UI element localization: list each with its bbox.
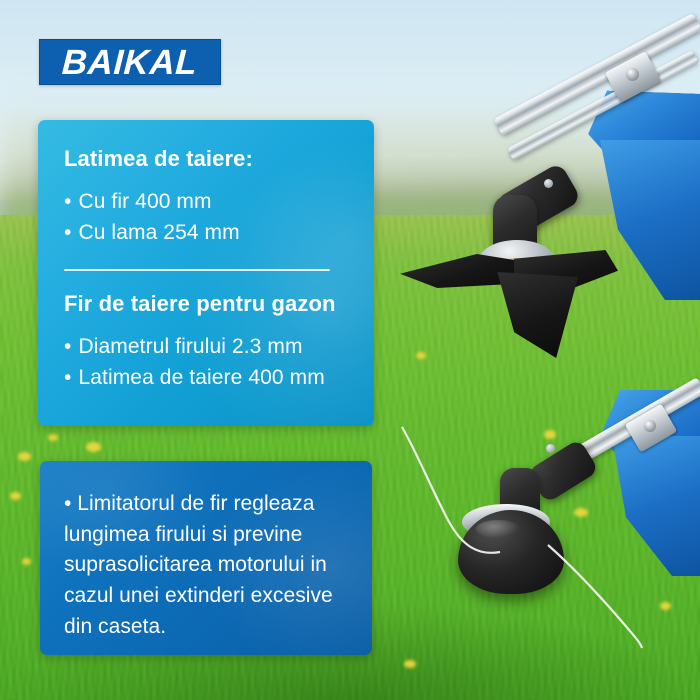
gearbox-grease-nipple [544, 179, 553, 188]
section-divider [64, 269, 330, 271]
note-body: Limitatorul de fir regleaza lungimea fir… [64, 492, 333, 638]
dandelion-flower [404, 660, 416, 668]
trimmer-line-heading: Fir de taiere pentru gazon [64, 291, 352, 317]
lower-clamp-bolt [644, 420, 656, 432]
bullet-icon: • [64, 191, 71, 212]
dandelion-flower [660, 602, 671, 610]
dandelion-flower [48, 434, 58, 441]
list-item: • Latimea de taiere 400 mm [64, 362, 352, 393]
list-item-label: Latimea de taiere 400 mm [78, 362, 324, 393]
dandelion-flower [544, 430, 556, 439]
dandelion-flower [22, 558, 31, 565]
bullet-icon: • [64, 336, 71, 357]
dandelion-flower [574, 508, 588, 517]
dandelion-flower [10, 492, 21, 500]
list-item-label: Cu lama 254 mm [78, 217, 239, 248]
brand-logo-text: BAIKAL [61, 45, 198, 80]
dandelion-flower [18, 452, 31, 461]
list-item-label: Cu fir 400 mm [78, 186, 211, 217]
list-item: • Diametrul firului 2.3 mm [64, 331, 352, 362]
marketing-image-canvas: BAIKAL Latimea de taiere: • Cu fir 400 m… [0, 0, 700, 700]
clamp-bolt [626, 68, 639, 81]
cutting-width-bullet-list: • Cu fir 400 mm • Cu lama 254 mm [64, 186, 352, 248]
trimmer-head-highlight [476, 520, 520, 538]
cutting-width-heading: Latimea de taiere: [64, 146, 352, 172]
list-item-label: Diametrul firului 2.3 mm [78, 331, 302, 362]
list-item: • Cu lama 254 mm [64, 217, 352, 248]
bullet-icon: • [64, 222, 71, 243]
line-limiter-note-content: • Limitatorul de fir regleaza lungimea f… [40, 461, 372, 655]
lower-grease-nipple [546, 444, 555, 453]
line-limiter-note-card: • Limitatorul de fir regleaza lungimea f… [40, 461, 372, 655]
specifications-card: Latimea de taiere: • Cu fir 400 mm • Cu … [38, 120, 374, 426]
brand-logo: BAIKAL [39, 39, 221, 85]
bullet-icon: • [64, 367, 71, 388]
dandelion-flower [416, 352, 426, 359]
specifications-card-content: Latimea de taiere: • Cu fir 400 mm • Cu … [38, 120, 374, 413]
bullet-icon: • [64, 492, 71, 515]
line-limiter-note-text: • Limitatorul de fir regleaza lungimea f… [64, 489, 346, 642]
dandelion-flower [86, 442, 101, 452]
list-item: • Cu fir 400 mm [64, 186, 352, 217]
trimmer-line-bullet-list: • Diametrul firului 2.3 mm • Latimea de … [64, 331, 352, 393]
